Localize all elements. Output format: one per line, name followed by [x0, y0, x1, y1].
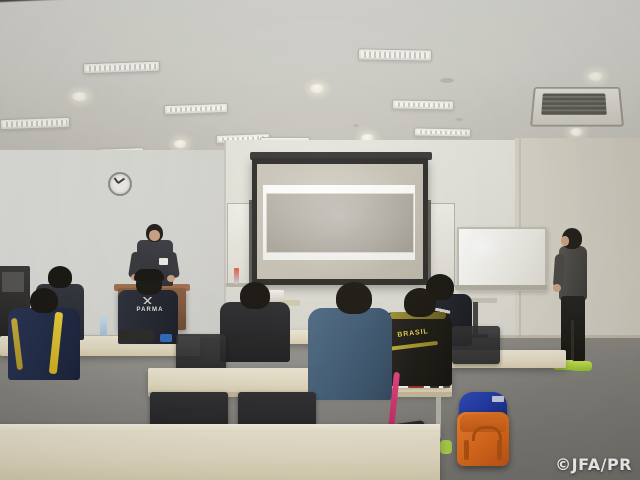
fluorescent-light-strip [414, 128, 471, 138]
participant-teal-torso [308, 308, 392, 400]
fluorescent-light-strip [0, 117, 70, 130]
participant-black-tee-torso [220, 302, 290, 362]
ceiling-downlight [588, 72, 604, 81]
chair-right [452, 326, 500, 364]
cabinet-panel [2, 272, 24, 292]
ceiling-fitting [456, 118, 463, 121]
fluorescent-light-strip [358, 48, 432, 61]
presenter-hand [167, 275, 175, 282]
fluorescent-light-strip [164, 103, 228, 115]
participant-black-tee-head [240, 282, 270, 309]
participant-back-left-head [48, 266, 72, 288]
fluorescent-light-strip [392, 99, 454, 110]
ac-vent-louvers [541, 93, 607, 115]
participant-brasil-head [404, 288, 436, 317]
small-blue-item [160, 334, 172, 342]
bottle-on-ledge [234, 268, 239, 284]
ceiling-downlight [310, 84, 325, 93]
ceiling-downlight [72, 92, 88, 101]
fluorescent-light-strip [83, 61, 160, 75]
desk-front-top-edge [0, 424, 440, 432]
backpack-strap [497, 440, 502, 460]
ceiling-downlight [570, 128, 583, 136]
water-bottle [100, 316, 107, 336]
standing-person-hand [553, 284, 561, 292]
participant-teal-head [336, 282, 372, 314]
photograph-seminar-room: PARMA BRASIL ©J [0, 0, 640, 480]
ceiling-fitting [353, 124, 359, 127]
participant-umbro-hair [134, 269, 164, 281]
pencil-case [118, 330, 154, 341]
desk-front-row [0, 424, 440, 480]
backpack-strap [464, 440, 469, 460]
wall-clock-icon [108, 172, 132, 196]
green-object-on-floor [440, 440, 452, 454]
presenter-name-badge [159, 258, 168, 265]
whiteboard-glare [463, 232, 503, 262]
ceiling-fitting [440, 78, 454, 83]
presenter-face [149, 230, 160, 241]
umbro-logo-icon [141, 297, 154, 304]
whiteboard-marker-tray [455, 285, 547, 290]
standing-person-leg-gap [571, 320, 574, 362]
backpack-handle [472, 426, 502, 441]
copyright-watermark: ©JFA/PR [555, 455, 632, 474]
standing-person-face [561, 236, 569, 246]
neon-sneaker [570, 361, 592, 371]
participant-tracksuit-head [30, 288, 58, 313]
ceiling-downlight [174, 140, 187, 148]
screen-glow [257, 164, 423, 279]
bag-tag [492, 396, 504, 402]
umbro-jacket-text: PARMA [128, 307, 172, 313]
